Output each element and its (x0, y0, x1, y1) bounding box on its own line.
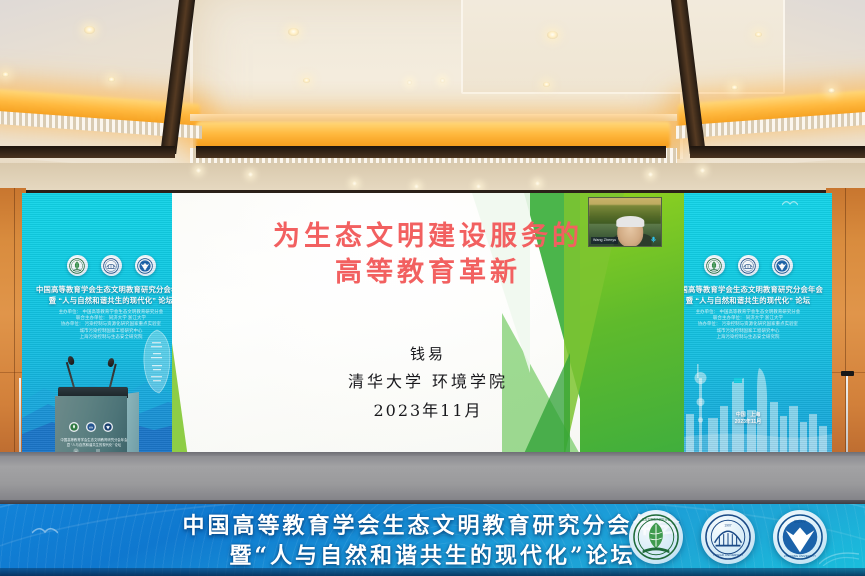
ceiling-slot-center (196, 146, 666, 158)
organizer-line: 上海污染控制与生态安全研究院 (664, 334, 832, 340)
podium-title-line1: 中国高等教育学会生态文明教育研究分会年会 (58, 438, 130, 443)
slide-affiliation: 清华大学 环境学院 (172, 367, 684, 397)
eco-education-society-emblem-icon (69, 422, 79, 432)
tongji-university-emblem-icon (86, 422, 96, 432)
banner-logo-row: 生态文明教育研究分会 1907 TONGJI UNIVERSITY (629, 510, 827, 564)
video-call-thumbnail[interactable]: Wang Zhenyu (588, 197, 662, 247)
downlight-icon (407, 80, 412, 85)
backdrop-right-title-line2: 暨 “人与自然和谐共生的现代化” 论坛 (664, 296, 832, 307)
downlight-icon (700, 168, 705, 173)
backdrop-location: 中国 · 上海 (664, 412, 832, 419)
tongji-university-emblem-icon (738, 255, 759, 276)
zhejiang-university-emblem-icon: 浙江大学 ZHEJIANG UNIVERSITY (773, 510, 827, 564)
eco-education-society-emblem-icon (704, 255, 725, 276)
cove-light-center (196, 122, 670, 148)
downlight-icon (755, 32, 762, 37)
backdrop-right-logo-row (664, 255, 832, 276)
slide-metadata: 钱易 清华大学 环境学院 2023年11月 (172, 341, 684, 425)
ceiling-lower-band (0, 163, 865, 190)
backdrop-panel-right: 中国高等教育学会生态文明教育研究分会年会 暨 “人与自然和谐共生的现代化” 论坛… (664, 193, 832, 458)
tongji-university-emblem-icon (101, 255, 122, 276)
zhejiang-university-emblem-icon (772, 255, 793, 276)
video-participant-hair (616, 216, 644, 227)
stand-head-right (841, 371, 854, 376)
downlight-icon (414, 184, 419, 189)
zhejiang-university-emblem-icon (103, 422, 113, 432)
downlight-icon (288, 28, 299, 36)
ceiling-slot-right (690, 146, 865, 158)
downlight-icon (440, 78, 445, 83)
coffer-edge-center (190, 114, 677, 121)
downlight-icon (535, 181, 540, 186)
backdrop-right-title: 中国高等教育学会生态文明教育研究分会年会 暨 “人与自然和谐共生的现代化” 论坛 (664, 285, 832, 306)
shanghai-skyline-graphic (664, 348, 832, 458)
backdrop-right-title-line1: 中国高等教育学会生态文明教育研究分会年会 (664, 285, 832, 296)
stage-backdrop: 中国高等教育学会生态文明教育研究分会年会 暨 “人与自然和谐共生的现代化” 论坛… (22, 193, 832, 458)
eco-education-society-emblem-icon: 生态文明教育研究分会 (629, 510, 683, 564)
downlight-icon (108, 77, 115, 82)
downlight-icon (476, 184, 481, 189)
svg-text:浙江大学: 浙江大学 (794, 519, 806, 524)
svg-text:ZHEJIANG UNIVERSITY: ZHEJIANG UNIVERSITY (784, 554, 816, 558)
downlight-icon (543, 82, 550, 87)
ceiling (0, 0, 865, 190)
conference-stage-photo: 中国高等教育学会生态文明教育研究分会年会 暨 “人与自然和谐共生的现代化” 论坛… (0, 0, 865, 576)
svg-text:生态文明教育研究分会: 生态文明教育研究分会 (642, 517, 671, 522)
downlight-icon (303, 78, 310, 83)
ceiling-slot-left (0, 146, 175, 158)
backdrop-date: 2023年11月 (664, 419, 832, 426)
podium-logo-row (55, 422, 127, 432)
ceiling-coffer-inner (461, 0, 785, 94)
tongji-university-emblem-icon: 1907 TONGJI UNIVERSITY (701, 510, 755, 564)
svg-text:1907: 1907 (724, 523, 731, 527)
slide-title-line2: 高等教育革新 (172, 255, 684, 291)
svg-text:TONGJI UNIVERSITY: TONGJI UNIVERSITY (713, 553, 743, 557)
bird-icon (782, 199, 798, 207)
backdrop-right-location-block: 中国 · 上海 2023年11月 (664, 412, 832, 426)
eco-education-society-emblem-icon (67, 255, 88, 276)
microphone-icon (649, 236, 658, 243)
wall-seam (14, 188, 15, 488)
stage-floor (0, 456, 865, 504)
downlight-icon (248, 172, 253, 177)
backdrop-right-organizers: 主办单位： 中国高等教育学会生态文明教育研究分会 联合主办单位： 同济大学 浙江… (664, 309, 832, 340)
zhejiang-university-emblem-icon (135, 255, 156, 276)
slide-date: 2023年11月 (172, 397, 684, 425)
green-sliver-left (172, 343, 188, 458)
downlight-icon (2, 72, 9, 77)
downlight-icon (828, 88, 835, 93)
downlight-icon (84, 26, 95, 34)
downlight-icon (547, 31, 558, 39)
front-stage-banner: 中国高等教育学会生态文明教育研究分会年会 暨“人与自然和谐共生的现代化”论坛 生… (0, 504, 865, 576)
video-participant-name-label: Wang Zhenyu (591, 237, 618, 244)
downlight-icon (731, 85, 738, 90)
downlight-icon (352, 181, 357, 186)
banner-bottom-shadow (0, 568, 865, 576)
slide-speaker-name: 钱易 (172, 341, 684, 367)
downlight-icon (648, 172, 653, 177)
downlight-icon (196, 168, 201, 173)
